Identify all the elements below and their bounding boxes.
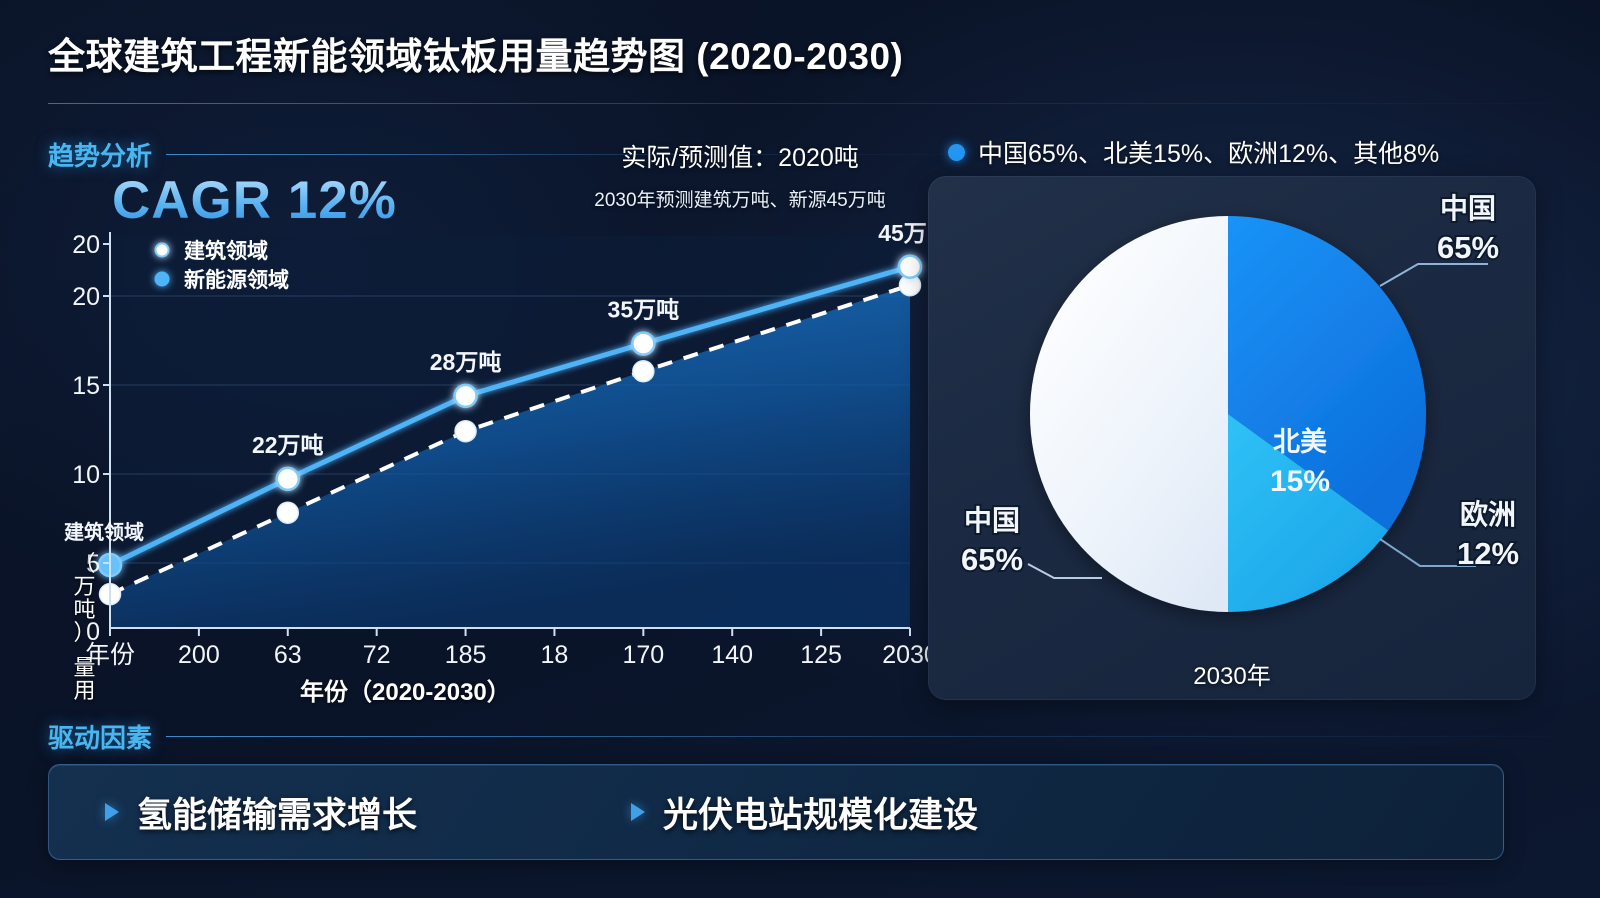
y-tick-label: 20 <box>72 283 100 311</box>
title-divider <box>48 103 1552 104</box>
data-point-construction <box>455 385 477 407</box>
x-tick-labels: 年份2006372185181701401252030 <box>85 628 932 669</box>
x-tick-label: 140 <box>711 641 753 669</box>
y-axis-title-char: ） <box>68 621 102 644</box>
driver-label: 氢能储输需求增长 <box>137 787 417 838</box>
driver-label: 光伏电站规模化建设 <box>663 787 978 838</box>
pie-label-name: 欧洲 <box>1460 499 1516 530</box>
pie-label-name: 北美 <box>1273 426 1327 457</box>
pie-label-value: 12% <box>1457 536 1519 571</box>
pie-leader-line <box>1380 264 1488 286</box>
title-bar: 全球建筑工程新能领域钛板用量趋势图 (2020-2030) <box>48 26 1552 80</box>
pie-slice-rest[interactable] <box>1030 216 1228 612</box>
data-point-construction <box>277 468 299 490</box>
pie-label-name: 中国 <box>1440 193 1496 224</box>
x-tick-label: 18 <box>541 641 569 669</box>
data-point-construction <box>632 333 654 355</box>
pie-label-value: 15% <box>1270 465 1330 498</box>
forecast-note-block: 实际/预测值：2020吨 2030年预测建筑万吨、新源45万吨 <box>560 138 920 212</box>
pie-slices <box>1030 216 1426 612</box>
point-annotation: 35万吨 <box>608 297 680 323</box>
y-tick-label: 20 <box>72 231 100 259</box>
pie-label-value: 65% <box>961 542 1023 577</box>
x-tick-label: 72 <box>363 641 391 669</box>
y-axis-title-char: （ <box>68 552 102 575</box>
x-tick-label: 2030 <box>882 641 932 669</box>
data-point-construction <box>899 256 921 278</box>
legend-label: 建筑领域 <box>184 239 268 263</box>
point-annotation: 建筑领域 <box>64 520 144 544</box>
pie-chart-svg: 中国65%北美15%欧洲12%中国65% <box>928 176 1536 700</box>
x-tick-label: 200 <box>178 641 220 669</box>
y-axis-title-char: 吨 <box>68 598 102 621</box>
drivers-box: 氢能储输需求增长 光伏电站规模化建设 <box>48 764 1504 860</box>
y-axis-title-char: 万 <box>68 575 102 598</box>
y-tick-label: 15 <box>72 372 100 400</box>
data-point-new-energy <box>277 502 298 523</box>
infographic-root: 全球建筑工程新能领域钛板用量趋势图 (2020-2030) 趋势分析 CAGR … <box>0 0 1600 898</box>
forecast-note-main: 实际/预测值：2020吨 <box>560 138 920 174</box>
point-annotation: 28万吨 <box>430 349 502 375</box>
y-axis-title-char: 量 <box>68 656 102 679</box>
data-point-new-energy <box>633 361 654 382</box>
pie-legend-text: 中国65%、北美15%、欧洲12%、其他8% <box>978 134 1439 170</box>
line-chart-svg: 2020151050 年份2006372185181701401252030 建… <box>32 222 932 712</box>
legend-marker-icon <box>156 273 169 286</box>
pie-caption: 2030年 <box>928 656 1536 691</box>
legend-label: 新能源领域 <box>184 268 289 292</box>
drivers-section-header: 驱动因素 <box>48 718 1556 755</box>
triangle-right-icon <box>105 803 119 821</box>
data-point-new-energy <box>455 421 476 442</box>
y-tick-label: 10 <box>72 461 100 489</box>
x-tick-label: 125 <box>800 641 842 669</box>
pie-label-name: 中国 <box>964 505 1020 536</box>
x-axis-title: 年份（2020-2030） <box>300 672 511 707</box>
legend-dot-icon <box>948 144 965 161</box>
x-tick-label: 170 <box>622 641 664 669</box>
point-annotation: 45万吨 <box>878 222 932 246</box>
point-annotation: 22万吨 <box>252 432 324 458</box>
drivers-section-label: 驱动因素 <box>48 718 152 755</box>
forecast-note-sub: 2030年预测建筑万吨、新源45万吨 <box>560 185 920 212</box>
pie-label-value: 65% <box>1437 230 1499 265</box>
line-chart: 2020151050 年份2006372185181701401252030 建… <box>32 222 932 712</box>
triangle-right-icon <box>631 803 645 821</box>
driver-item[interactable]: 氢能储输需求增长 <box>105 787 417 838</box>
y-axis-title-char: 用 <box>68 679 102 702</box>
driver-item[interactable]: 光伏电站规模化建设 <box>631 787 978 838</box>
x-tick-label: 63 <box>274 641 302 669</box>
page-title: 全球建筑工程新能领域钛板用量趋势图 (2020-2030) <box>48 26 1552 80</box>
pie-legend: 中国65%、北美15%、欧洲12%、其他8% <box>948 134 1439 170</box>
x-tick-label: 185 <box>445 641 487 669</box>
drivers-section-rule <box>166 736 1556 737</box>
trend-section-label: 趋势分析 <box>48 136 152 173</box>
pie-chart-panel: 中国65%北美15%欧洲12%中国65% <box>928 176 1536 700</box>
y-axis-title: （ 万 吨 ） 量 用 <box>68 552 102 703</box>
legend-marker-icon <box>156 244 169 257</box>
pie-leader-line <box>1028 564 1102 578</box>
